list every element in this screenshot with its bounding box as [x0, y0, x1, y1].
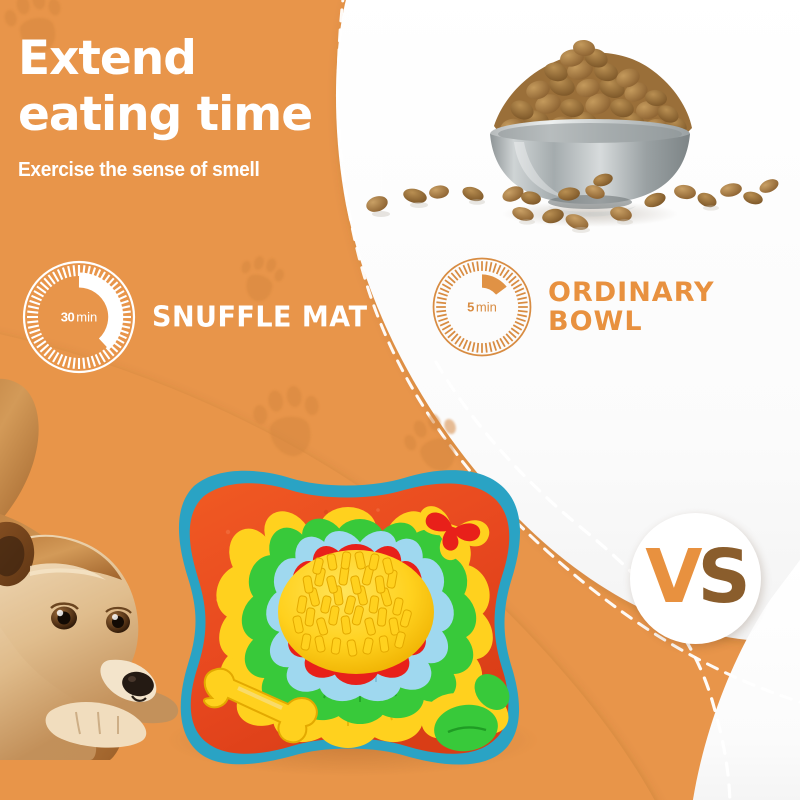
- headline-line-1: Extend: [18, 36, 358, 82]
- ordinary-bowl-title-line-1: ORDINARY: [548, 278, 715, 307]
- timer-label: 5min: [430, 300, 534, 315]
- timer-label: 30min: [20, 310, 138, 325]
- snuffle-mat-title: SNUFFLE MAT: [152, 301, 368, 334]
- timer-number: 30: [61, 310, 74, 325]
- kibble-pieces: [355, 170, 785, 240]
- headline-block: Extend eating time Exercise the sense of…: [18, 36, 358, 182]
- compare-row-snuffle-mat: 30min SNUFFLE MAT: [20, 258, 368, 376]
- poster-canvas: Extend eating time Exercise the sense of…: [0, 0, 800, 800]
- compare-row-ordinary-bowl: 5min ORDINARY BOWL: [430, 255, 715, 359]
- ordinary-bowl-title: ORDINARY BOWL: [548, 278, 715, 336]
- timer-unit: min: [76, 310, 97, 325]
- subtitle: Exercise the sense of smell: [18, 158, 334, 182]
- mat-center-disc: [278, 550, 434, 674]
- vs-right-char: S: [697, 534, 745, 620]
- vs-left-char: V: [645, 534, 697, 620]
- timer-icon-5min: 5min: [430, 255, 534, 359]
- ordinary-bowl-title-line-2: BOWL: [548, 307, 715, 336]
- timer-icon-30min: 30min: [20, 258, 138, 376]
- vs-badge: VS: [630, 513, 761, 644]
- timer-number: 5: [467, 300, 474, 315]
- vs-label: VS: [645, 540, 746, 614]
- headline-line-2: eating time: [18, 92, 358, 138]
- dog-photo: [0, 340, 220, 760]
- timer-unit: min: [476, 300, 497, 315]
